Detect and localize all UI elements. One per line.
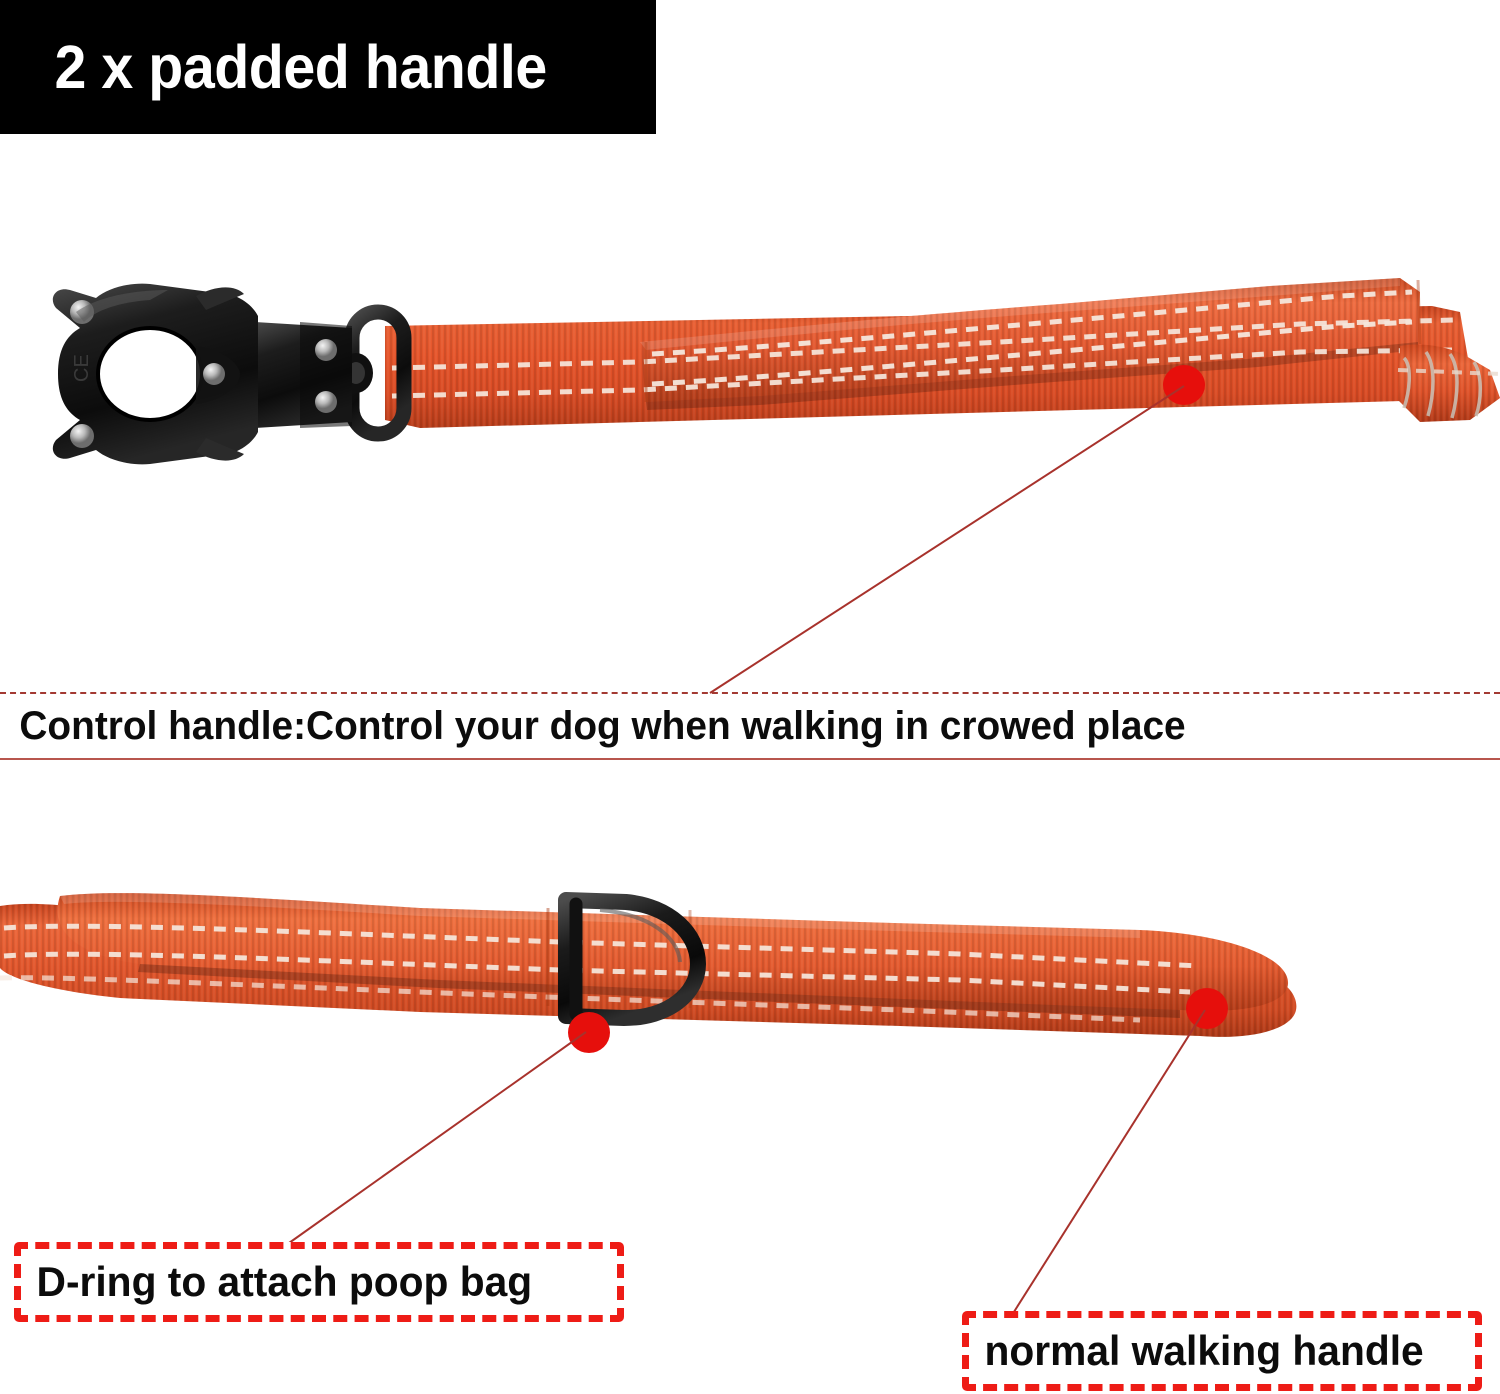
- sleeve-seam-right: [1418, 280, 1420, 344]
- screw: [315, 391, 337, 413]
- title-banner: 2 x padded handle: [0, 0, 656, 134]
- banner-title: 2 x padded handle: [0, 37, 547, 98]
- callout-control-handle: Control handle:Control your dog when wal…: [0, 692, 1500, 760]
- marker-dot-walking-handle: [1186, 988, 1228, 1029]
- bungee-section: [1398, 344, 1500, 422]
- screw: [315, 339, 337, 361]
- screw: [70, 424, 94, 448]
- marker-dot-d-ring: [568, 1012, 610, 1053]
- frog-clasp-head: CE: [53, 284, 258, 465]
- svg-text:CE: CE: [71, 354, 93, 382]
- clasp-plate: [255, 322, 352, 428]
- callout-d-ring: D-ring to attach poop bag: [14, 1242, 624, 1322]
- infographic-canvas: 2 x padded handle: [0, 0, 1500, 1394]
- screw: [203, 363, 225, 385]
- callout-normal-handle: normal walking handle: [962, 1311, 1482, 1391]
- callout-normal-handle-text: normal walking handle: [969, 1330, 1424, 1372]
- callout-control-handle-text: Control handle:Control your dog when wal…: [0, 706, 1186, 746]
- bottom-leash-illustration: [0, 860, 1500, 1080]
- callout-d-ring-text: D-ring to attach poop bag: [21, 1261, 532, 1303]
- marker-dot-control-handle: [1163, 365, 1205, 405]
- top-leash-illustration: CE: [0, 250, 1500, 530]
